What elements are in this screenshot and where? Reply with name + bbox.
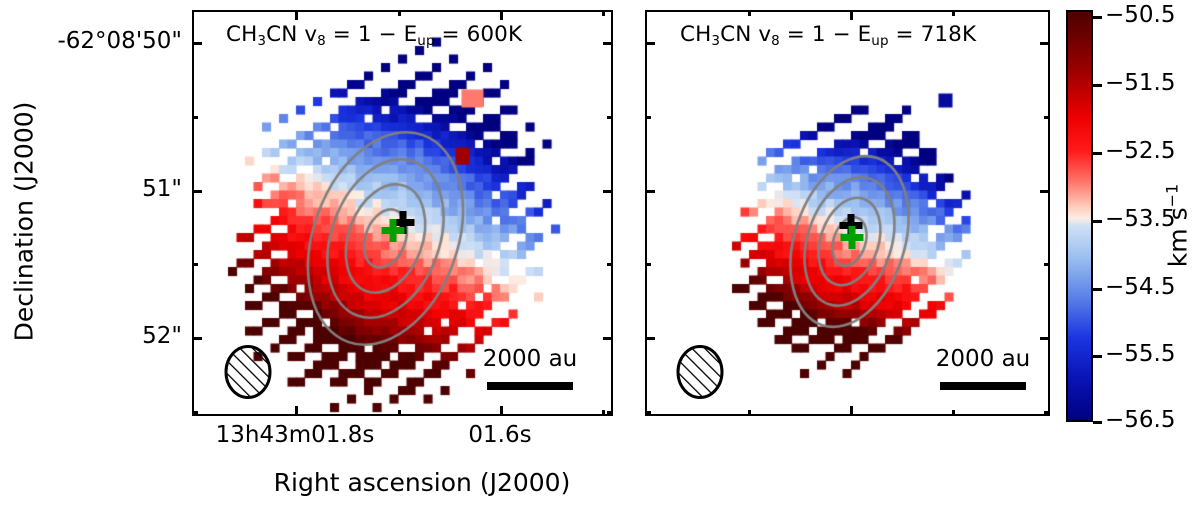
x-tick [850,10,853,20]
y-tick [645,190,655,193]
title-species-rest: CN v [266,22,317,47]
x-tick [952,410,955,416]
colorbar-tick-label: −52.5 [1105,140,1175,163]
x-axis-label: Right ascension (J2000) [222,470,622,495]
y-tick [607,116,613,119]
scalebar-label: 2000 au [873,348,1093,371]
title-eq2: = 718K [889,22,977,47]
y-tick [1044,263,1050,266]
x-tick [500,406,503,416]
y-tick [645,263,651,266]
y-tick [192,116,198,119]
colorbar-tick [1093,152,1102,155]
x-tick [398,410,401,416]
green-cross-marker [380,218,406,244]
x-tick [850,406,853,416]
x-tick [952,10,955,16]
y-tick-label: 51" [0,178,182,201]
title-vib-sub: 8 [771,33,780,49]
title-eq2: = 600K [435,22,523,47]
x-tick [295,406,298,416]
colorbar-tick-label: −50.5 [1105,4,1175,27]
y-tick [603,190,613,193]
scalebar [940,382,1026,390]
y-tick [192,263,198,266]
title-eq1: = 1 − E [780,22,871,47]
title-eq1: = 1 − E [326,22,417,47]
x-tick [500,10,503,20]
y-tick [645,411,651,414]
y-tick [603,337,613,340]
colorbar-tick [1093,421,1102,424]
colorbar-tick [1093,355,1102,358]
x-tick [602,410,605,416]
x-tick [748,10,751,16]
colorbar-tick [1093,220,1102,223]
x-tick [602,10,605,16]
beam-ellipse [672,342,728,402]
colorbar-unit-exp: −1 [1163,184,1182,208]
colorbar-tick [1093,16,1102,19]
scalebar-label: 2000 au [420,348,640,371]
title-eup-sub: up [417,33,434,49]
y-tick-label: 52" [0,325,182,348]
colorbar-tick-label: −51.5 [1105,72,1175,95]
y-tick [192,190,202,193]
scalebar [487,382,573,390]
title-species: CH [680,22,711,47]
y-tick [192,411,198,414]
y-tick [603,42,613,45]
y-tick [1044,411,1050,414]
x-tick-label: 01.6s [380,424,620,447]
x-tick [748,410,751,416]
colorbar-tick [1093,84,1102,87]
y-tick [1040,337,1050,340]
figure-canvas: CH3CN v8 = 1 − Eup = 600K CH3CN v8 = 1 −… [0,0,1200,506]
y-tick [607,263,613,266]
y-tick [645,42,655,45]
colorbar-tick-label: −53.5 [1105,208,1175,231]
y-tick [192,42,202,45]
panel-title-718K: CH3CN v8 = 1 − Eup = 718K [680,24,976,46]
colorbar-tick-label: −54.5 [1105,276,1175,299]
title-species-sub: 3 [711,33,720,49]
y-tick [607,411,613,414]
colorbar-tick [1093,288,1102,291]
title-eup-sub: up [871,33,888,49]
y-tick-label: -62°08'50" [0,30,182,53]
y-tick [1040,190,1050,193]
title-species-rest: CN v [720,22,771,47]
x-tick [295,10,298,20]
panel-title-600K: CH3CN v8 = 1 − Eup = 600K [226,24,522,46]
title-vib-sub: 8 [317,33,326,49]
colorbar-tick-label: −55.5 [1105,343,1175,366]
y-tick [1040,42,1050,45]
y-tick [192,337,202,340]
colorbar-tick-label: −56.5 [1105,409,1175,432]
y-tick [645,337,655,340]
title-species: CH [226,22,257,47]
x-tick-label: 13h43m01.8s [175,424,415,447]
y-tick [645,116,651,119]
y-tick [1044,116,1050,119]
green-cross-marker [839,225,865,251]
title-species-sub: 3 [257,33,266,49]
beam-ellipse [220,342,276,402]
x-tick [398,10,401,16]
